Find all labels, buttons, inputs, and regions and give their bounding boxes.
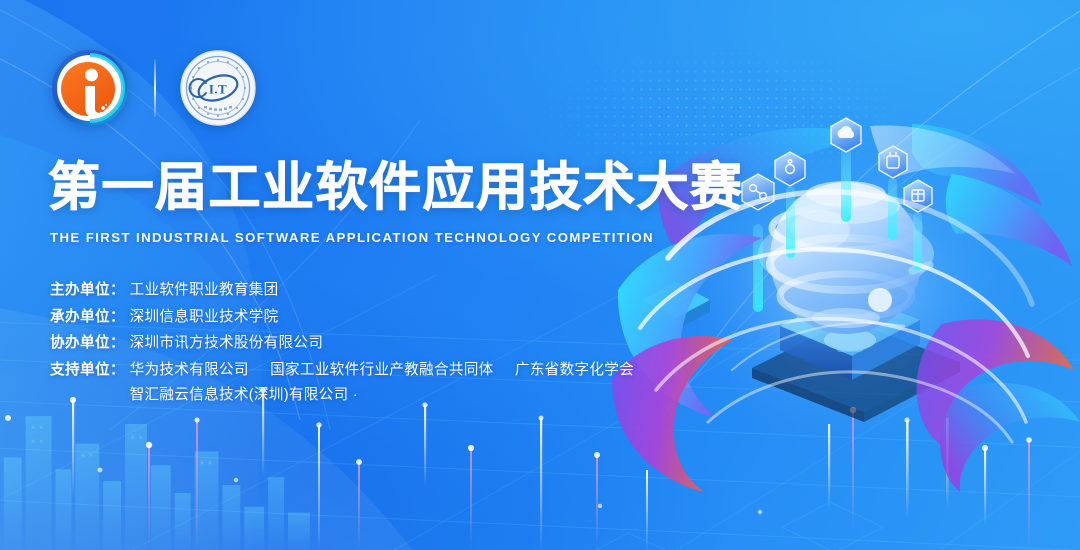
supporter-gd-society: 广东省数字化学会 — [515, 362, 634, 378]
organizer-label: 主办单位 — [50, 279, 110, 302]
organizer-values: 工业软件职业教育集团 — [130, 279, 279, 302]
supporter-consortium: 国家工业软件行业产教融合共同体 — [270, 362, 493, 378]
supporter-huawei: 华为技术有限公司 — [130, 362, 249, 378]
badge-chip-icon — [879, 146, 907, 178]
organizer-row-supporters: 支持单位 ： 华为技术有限公司 国家工业软件行业产教融合共同体 广东省数字化学会… — [50, 359, 744, 407]
sziit-seal-icon: I.T — [180, 50, 256, 126]
page-subtitle: THE FIRST INDUSTRIAL SOFTWARE APPLICATIO… — [50, 230, 744, 245]
organizer-value: 工业软件职业教育集团 — [130, 279, 279, 302]
organizer-colon: ： — [110, 306, 125, 329]
sziit-seal-logo: I.T — [180, 50, 256, 126]
organizer-row-coorganizer: 协办单位 ： 深圳市讯方技术股份有限公司 — [50, 332, 744, 355]
organizer-label: 协办单位 — [50, 332, 110, 355]
hero-copy-block: 第一届工业软件应用技术大赛 THE FIRST INDUSTRIAL SOFTW… — [48, 160, 744, 411]
organizer-row-host: 主办单位 ： 工业软件职业教育集团 — [50, 279, 744, 302]
organizer-value-line-2: 智汇融云信息技术(深圳)有限公司 · — [130, 384, 634, 407]
logo-bar: I.T — [50, 48, 256, 128]
svg-text:I.T: I.T — [209, 82, 227, 97]
organizer-colon: ： — [110, 359, 125, 382]
organizer-label: 支持单位 — [50, 359, 110, 382]
info-i-emblem-icon — [50, 48, 130, 128]
page-title: 第一届工业软件应用技术大赛 — [48, 160, 744, 216]
organizer-colon: ： — [110, 332, 125, 355]
organizer-values: 华为技术有限公司 国家工业软件行业产教融合共同体 广东省数字化学会 智汇融云信息… — [130, 359, 634, 407]
organizer-value-line-1: 华为技术有限公司 国家工业软件行业产教融合共同体 广东省数字化学会 — [130, 359, 634, 382]
banner-canvas: I.T — [0, 0, 1080, 550]
organizer-row-undertaker: 承办单位 ： 深圳信息职业技术学院 — [50, 306, 744, 329]
info-i-emblem-logo — [50, 48, 130, 128]
organizer-list: 主办单位 ： 工业软件职业教育集团 承办单位 ： 深圳信息职业技术学院 协办单位… — [50, 279, 744, 407]
organizer-colon: ： — [110, 279, 125, 302]
organizer-label: 承办单位 — [50, 306, 110, 329]
logo-divider — [154, 59, 156, 117]
organizer-value: 深圳市讯方技术股份有限公司 — [130, 332, 324, 355]
organizer-values: 深圳信息职业技术学院 — [130, 306, 279, 329]
organizer-values: 深圳市讯方技术股份有限公司 — [130, 332, 324, 355]
organizer-value: 深圳信息职业技术学院 — [130, 306, 279, 329]
